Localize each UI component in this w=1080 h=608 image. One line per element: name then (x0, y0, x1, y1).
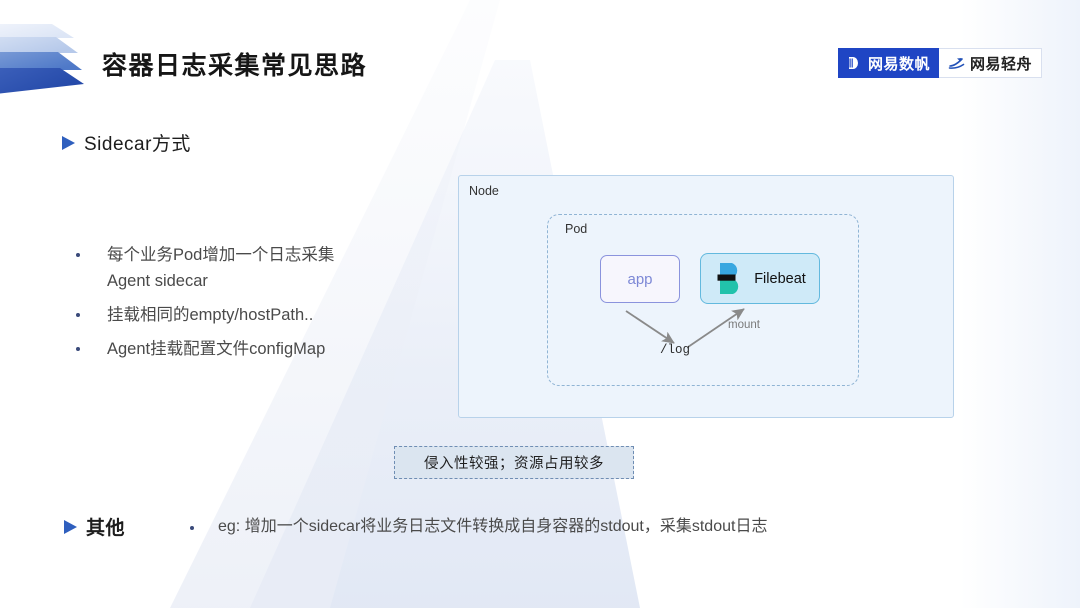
section-heading-sidecar: Sidecar方式 (62, 129, 191, 156)
other-example-text: eg: 增加一个sidecar将业务日志文件转换成自身容器的stdout，采集s… (218, 516, 767, 538)
triangle-right-icon (62, 136, 75, 150)
list-item-line2: Agent sidecar (107, 268, 334, 294)
arrow-down-right-icon (626, 311, 674, 343)
callout-text: 侵入性较强；资源占用较多 (424, 452, 604, 473)
section-heading-other: 其他 (64, 513, 125, 540)
logo-group: 网易数帆 网易轻舟 (838, 48, 1042, 78)
list-item: 挂载相同的empty/hostPath.. (76, 302, 436, 328)
bullet-dot-icon (76, 253, 80, 257)
bullet-dot-icon (76, 347, 80, 351)
list-item-text: 挂载相同的empty/hostPath.. (107, 302, 313, 328)
section-heading-sidecar-label: Sidecar方式 (84, 129, 191, 156)
logo-netease-qingzhou: 网易轻舟 (939, 48, 1042, 78)
node-label: Node (469, 184, 499, 198)
bullet-dot-icon (190, 526, 194, 530)
triangle-right-icon (64, 520, 77, 534)
list-item: 每个业务Pod增加一个日志采集 Agent sidecar (76, 242, 436, 294)
bullet-dot-icon (76, 313, 80, 317)
log-path-label: /log (660, 343, 690, 357)
logo-netease-qingzhou-text: 网易轻舟 (970, 53, 1032, 74)
slide-header: 容器日志采集常见思路 网易数帆 网易轻舟 (0, 0, 1080, 110)
section-heading-other-label: 其他 (86, 513, 125, 540)
mount-label: mount (728, 319, 760, 331)
diagram-arrows (548, 215, 860, 387)
list-item-text: Agent挂载配置文件configMap (107, 336, 325, 362)
logo-netease-shufan: 网易数帆 (838, 48, 939, 78)
diagram-node-box: Node Pod app Filebeat /log (458, 175, 954, 418)
list-item-line1: 每个业务Pod增加一个日志采集 (107, 246, 334, 264)
list-item-text: 每个业务Pod增加一个日志采集 Agent sidecar (107, 242, 334, 294)
bullet-list: 每个业务Pod增加一个日志采集 Agent sidecar 挂载相同的empty… (76, 242, 436, 370)
list-item: Agent挂载配置文件configMap (76, 336, 436, 362)
diagram-pod-box: Pod app Filebeat /log mount (547, 214, 859, 386)
page-title: 容器日志采集常见思路 (102, 46, 367, 82)
netease-shufan-mark-icon (847, 55, 863, 71)
other-example-row: eg: 增加一个sidecar将业务日志文件转换成自身容器的stdout，采集s… (190, 516, 767, 538)
netease-qingzhou-mark-icon (948, 55, 965, 71)
logo-netease-shufan-text: 网易数帆 (868, 53, 930, 74)
callout-box: 侵入性较强；资源占用较多 (394, 446, 634, 479)
layered-chevron-logo-icon (0, 22, 84, 96)
